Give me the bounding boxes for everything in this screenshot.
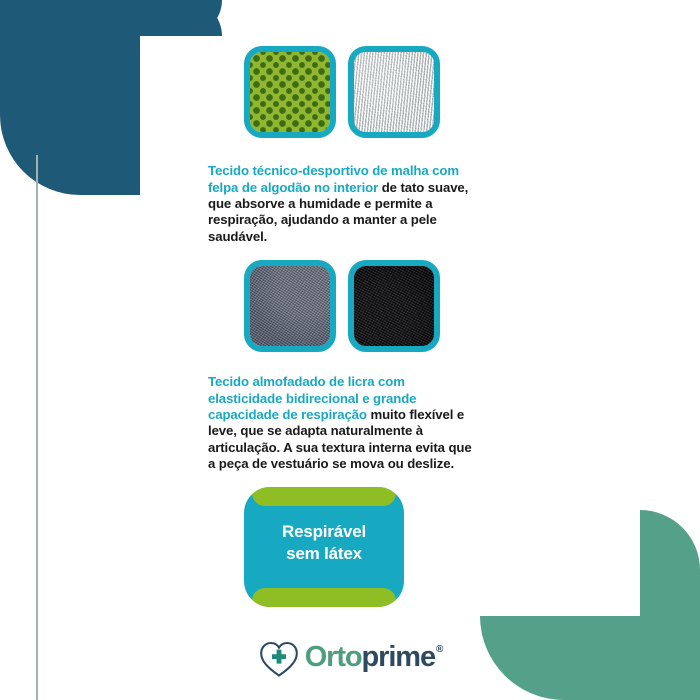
logo-word-prime: prime: [362, 641, 435, 673]
swatch-green-mesh-texture: [250, 52, 330, 132]
breathable-latex-free-badge: Respirável sem látex: [244, 487, 404, 607]
swatch-row-lycra-padded: [244, 260, 440, 352]
swatch-grey-terry: [348, 46, 440, 138]
logo-word-orto: Orto: [305, 641, 362, 673]
badge-line-1: Respirável: [244, 521, 404, 543]
badge-line-2: sem látex: [244, 543, 404, 565]
swatch-grey-terry-texture: [354, 52, 434, 132]
content-column: Tecido técnico-desportivo de malha com f…: [200, 0, 500, 700]
ortoprime-logo: Ortoprime®: [204, 636, 496, 682]
registered-trademark-icon: ®: [436, 644, 442, 655]
badge-bar-top: [252, 487, 396, 506]
badge-bar-bottom: [252, 588, 396, 607]
swatch-black-texture: [354, 266, 434, 346]
left-vertical-rule: [36, 155, 38, 700]
swatch-green-mesh: [244, 46, 336, 138]
ortoprime-wordmark: Ortoprime®: [305, 642, 442, 679]
paragraph-mesh-cotton: Tecido técnico-desportivo de malha com f…: [208, 163, 476, 245]
paragraph-lycra-padded: Tecido almofadado de licra com elasticid…: [208, 374, 476, 472]
product-feature-card: Tecido técnico-desportivo de malha com f…: [0, 0, 700, 700]
top-left-blue-bracket-horizontal: [0, 0, 222, 36]
top-left-blue-bracket-vertical: [0, 0, 140, 195]
heart-with-medical-cross-icon: [259, 640, 299, 678]
swatch-grey-heather-texture: [250, 266, 330, 346]
badge-text: Respirável sem látex: [244, 521, 404, 565]
swatch-grey-heather: [244, 260, 336, 352]
swatch-black: [348, 260, 440, 352]
bottom-right-green-bracket-vertical: [640, 510, 700, 700]
bottom-right-green-bracket-horizontal: [480, 616, 700, 700]
swatch-row-mesh-cotton: [244, 46, 440, 138]
